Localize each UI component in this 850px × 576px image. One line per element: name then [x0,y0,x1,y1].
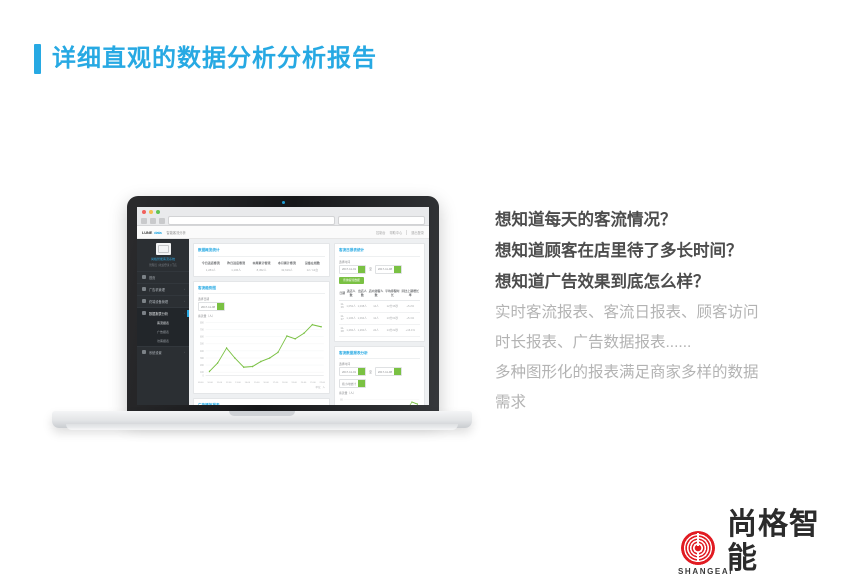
x-tick: 09:00 [198,382,203,384]
date-value: 2017-11-01 [340,370,358,374]
kpi-label: 本周累计客流 [249,261,274,265]
kpi-value: 8,452人 [249,268,274,272]
sidebar-subitem-visitor-report[interactable]: 访客报表 [137,337,189,346]
x-tick: 18:00 [282,382,287,384]
stat-type-select[interactable]: 按小时统计 [339,379,366,388]
calendar-icon[interactable] [358,266,365,273]
x-tick: 17:00 [273,382,278,384]
dashboard-column-right: 客流日报表统计 选择时间 2017-11-01 至 2017- [334,243,425,403]
brand-accent: data [154,230,161,235]
webcam-icon [282,201,285,204]
x-tick: 22:00 [320,382,325,384]
laptop-base-front [66,424,458,430]
chart-footer: 单位：人 [198,385,325,389]
kpi-label: 设备在线数 [300,261,325,265]
marketing-copy: 想知道每天的客流情况？ 想知道顾客在店里待了多长时间？ 想知道广告效果到底怎么样… [495,205,825,418]
header-menu-item[interactable]: 控制台 [376,230,386,235]
home-icon [142,275,146,279]
sidebar-item-label: 数据报表分析 [149,311,168,316]
kpi-label: 本月累计客流 [274,261,299,265]
traffic-analysis-chart-card: 客流数据报表分析 选择时间 2017-11-01 至 2017 [334,346,425,406]
filter-label: 选择时间 [339,260,420,264]
profile-name: 尚格智能客流系统 [137,257,189,261]
sidebar-item-settings[interactable]: 系统设置 › [137,346,189,358]
x-tick: 13:00 [235,382,240,384]
header-menu-item[interactable]: 退出登录 [411,230,424,235]
brand-subtitle: 智能客流分析 [167,230,186,235]
x-tick: 19:00 [291,382,296,384]
card-title: 客流数据报表分析 [339,351,420,360]
table-cell: 13分04秒 [384,312,400,324]
line-chart-traffic: 800 700 600 500 400 300 200 100 [198,319,325,381]
kpi-value: 1,284人 [198,268,223,272]
x-tick: 16:00 [263,382,268,384]
page-title-text: 详细直观的数据分析分析报告 [52,44,377,74]
avatar [156,243,171,255]
kpi-label: 昨日进店客流 [223,261,248,265]
card-title: 客流日报表统计 [339,248,420,257]
sidebar-item-devices[interactable]: 终端设备管理 › [137,295,189,307]
table-cell: 1,038人 [357,300,368,312]
x-tick: 15:00 [254,382,259,384]
svg-text:800: 800 [200,321,204,324]
table-cell: 24人 [368,324,384,336]
logo-en-text: SHANGEAI [678,567,718,576]
x-tick: 10:00 [207,382,212,384]
sidebar-item-home[interactable]: 首页 [137,271,189,283]
y-axis-label: 客流量（人） [198,314,325,318]
table-row[interactable]: 11-08 1,284人 1,260人 24人 14分22秒 +16.1% [339,324,420,336]
stats-card: 数据概览统计 今日进店客流 1,284人 昨日进店客流 1,106人 [193,243,330,277]
kpi-item: 昨日进店客流 1,106人 [223,261,248,272]
table-cell: 14人 [368,300,384,312]
header-menu-item[interactable]: 帮助中心 [390,230,403,235]
filter-label: 选择日期 [198,297,325,301]
kpi-item: 本月累计客流 32,619人 [274,261,299,272]
screen-icon [142,287,146,291]
dashboard-column-left: 数据概览统计 今日进店客流 1,284人 昨日进店客流 1,106人 [193,243,330,403]
table-cell: 14分22秒 [384,324,400,336]
chevron-right-icon: › [184,299,185,303]
laptop-screen: LUNE data 智能客流分析 控制台 帮助中心 退出登录 [137,207,429,405]
card-title: 客流趋势图 [198,286,325,295]
browser-chrome [137,207,429,226]
chart-svg: 800 700 600 500 400 300 200 100 [198,319,325,381]
svg-text:500: 500 [200,342,204,345]
kpi-item: 本周累计客流 8,452人 [249,261,274,272]
table-cell: 1,052人 [345,300,356,312]
copy-question: 想知道顾客在店里待了多长时间？ [495,236,825,267]
browser-toolbar [141,216,425,225]
stat-type-value: 按小时统计 [340,382,358,386]
page-title: 详细直观的数据分析分析报告 [34,44,377,74]
kpi-row: 今日进店客流 1,284人 昨日进店客流 1,106人 本周累计客流 [198,260,325,272]
svg-text:600: 600 [200,335,204,338]
title-accent-bar [34,44,41,74]
date-picker[interactable]: 2017-11-08 [198,302,225,311]
table-cell: 1,094人 [357,312,368,324]
table-header-row: 日期 进店人数 出店人数 店内滞留人数 平均停留时长 同比上期增长率 [339,287,420,301]
date-value: 2017-11-08 [376,370,394,374]
column-header: 出店人数 [357,287,368,301]
column-header: 同比上期增长率 [401,287,421,301]
sidebar-item-reports[interactable]: 数据报表分析 › [137,307,189,319]
svg-text:700: 700 [200,328,204,331]
copy-question: 想知道每天的客流情况？ [495,205,825,236]
filter-row: 2017-11-01 至 2017-11-08 [339,367,420,388]
card-title: 广告播放报表 [198,403,325,405]
sidebar-item-label: 广告机管理 [149,287,165,292]
kpi-item: 设备在线数 12 / 12台 [300,261,325,272]
table-cell: 1,284人 [345,324,356,336]
calendar-icon[interactable] [217,303,224,310]
table-cell: 1,260人 [357,324,368,336]
profile-meta: 管理员 | 欢迎登录 | 门店 [137,263,189,267]
app-header: LUNE data 智能客流分析 控制台 帮助中心 退出登录 [137,226,429,239]
gear-icon [142,350,146,354]
search-input[interactable] [338,216,425,225]
app-brand[interactable]: LUNE data 智能客流分析 [142,230,186,235]
slide-root: 详细直观的数据分析分析报告 想知道每天的客流情况？ 想知道顾客在店里待了多长时间… [0,0,850,567]
kpi-label: 今日进店客流 [198,261,223,265]
y-tick-labels: 800 700 600 500 400 300 200 100 [200,321,204,378]
filter-label: 选择时间 [339,362,420,366]
forward-icon[interactable] [150,218,156,224]
chevron-right-icon: › [184,287,185,291]
table-cell: +16.1% [401,324,421,336]
sidebar-item-label: 终端设备管理 [149,299,168,304]
dashboard-content: 数据概览统计 今日进店客流 1,284人 昨日进店客流 1,106人 [189,239,429,405]
svg-text:300: 300 [200,357,204,360]
copy-paragraph: 需求 [495,388,825,418]
y-tick-labels: 800 700 600 500 400 300 200 100 [340,399,343,405]
ad-report-card-partial: 广告播放报表 选择时间 2017-11-01 至 2017-1 [193,398,330,405]
x-tick: 11:00 [217,382,222,384]
back-icon[interactable] [141,218,147,224]
kpi-value: 32,619人 [274,268,299,272]
x-tick: 20:00 [301,382,306,384]
sidebar-profile: 尚格智能客流系统 管理员 | 欢迎登录 | 门店 [137,239,189,271]
kpi-value: 12 / 12台 [300,268,325,272]
svg-text:200: 200 [200,364,204,367]
table-row[interactable]: 11-07 1,106人 1,094人 12人 13分04秒 +5.1% [339,312,420,324]
fingerprint-icon [681,531,715,565]
logo-cn-text: 尚格智能 [727,508,850,576]
table-cell: 12分36秒 [384,300,400,312]
close-icon[interactable] [142,210,146,214]
sidebar-subitem-ad-report[interactable]: 广告报表 [137,328,189,337]
sidebar-subitem-traffic-report[interactable]: 客流报表 [137,319,189,328]
device-icon [142,299,146,303]
copy-paragraph: 时长报表、广告数据报表...... [495,328,825,358]
date-picker-to[interactable]: 2017-11-08 [375,265,402,274]
column-header: 进店人数 [345,287,356,301]
table-cell: 12人 [368,312,384,324]
x-tick-labels: 09:00 10:00 11:00 12:00 13:00 14:00 15:0… [198,382,325,384]
card-title: 数据概览统计 [198,248,325,257]
copy-paragraph: 实时客流报表、客流日报表、顾客访问 [495,298,825,328]
sidebar-item-label: 首页 [149,275,155,280]
date-value: 2017-11-08 [376,267,394,271]
series-points [346,401,418,405]
filter-row: 2017-11-01 至 2017-11-08 查询客流数据 [339,265,420,284]
date-value: 2017-11-08 [199,305,217,309]
copy-paragraph: 多种图形化的报表满足商家多样的数据 [495,358,825,388]
y-axis-label: 客流量（人） [339,391,420,395]
divider [406,230,407,235]
series-line [346,402,417,405]
sidebar: 尚格智能客流系统 管理员 | 欢迎登录 | 门店 首页 广告机管理 › [137,239,189,405]
kpi-item: 今日进店客流 1,284人 [198,261,223,272]
column-header: 店内滞留人数 [368,287,384,301]
date-value: 2017-11-01 [340,267,358,271]
window-controls[interactable] [142,210,160,214]
daily-report-table-card: 客流日报表统计 选择时间 2017-11-01 至 2017- [334,243,425,342]
laptop-lid: LUNE data 智能客流分析 控制台 帮助中心 退出登录 [127,196,439,418]
copy-question: 想知道广告效果到底怎么样？ [495,267,825,298]
data-table: 日期 进店人数 出店人数 店内滞留人数 平均停留时长 同比上期增长率 [339,287,420,337]
chevron-right-icon: › [184,350,185,354]
sidebar-item-label: 系统设置 [149,350,162,355]
chart-svg: 800 700 600 500 400 300 200 100 [339,396,420,405]
chevron-down-icon: › [184,311,185,315]
table-cell: +5.1% [401,312,421,324]
traffic-trend-card: 客流趋势图 选择日期 2017-11-08 客流量（人） [193,281,330,395]
svg-text:400: 400 [200,349,204,352]
app-header-menu: 控制台 帮助中心 退出登录 [376,230,424,235]
line-chart-analysis: 800 700 600 500 400 300 200 100 [339,396,420,405]
maximize-icon[interactable] [156,210,160,214]
app-body: 尚格智能客流系统 管理员 | 欢迎登录 | 门店 首页 广告机管理 › [137,239,429,405]
table-cell: +5.2% [401,300,421,312]
column-header: 平均停留时长 [384,287,400,301]
minimize-icon[interactable] [149,210,153,214]
kpi-value: 1,106人 [223,268,248,272]
date-picker-to[interactable]: 2017-11-08 [375,367,402,376]
gridlines [206,323,324,373]
chart-icon [142,311,146,315]
logo-mark: SHANGEAI [678,531,718,576]
table-cell: 1,106人 [345,312,356,324]
calendar-icon[interactable] [394,266,401,273]
date-picker-from[interactable]: 2017-11-01 [339,265,366,274]
date-picker-from[interactable]: 2017-11-01 [339,367,366,376]
brand-main: LUNE [142,230,152,235]
x-tick: 21:00 [310,382,315,384]
chevron-down-icon[interactable] [358,380,365,387]
table-row[interactable]: 11-06 1,052人 1,038人 14人 12分36秒 +5.2% [339,300,420,312]
x-tick: 14:00 [245,382,250,384]
gridlines [344,400,419,405]
x-tick: 12:00 [226,382,231,384]
company-logo: SHANGEAI 尚格智能 [678,508,850,576]
query-button[interactable]: 查询客流数据 [339,277,364,284]
address-input[interactable] [168,216,335,225]
reload-icon[interactable] [159,218,165,224]
laptop-mockup: LUNE data 智能客流分析 控制台 帮助中心 退出登录 [52,196,472,436]
svg-text:0: 0 [203,374,205,377]
calendar-icon[interactable] [394,368,401,375]
sidebar-item-ads[interactable]: 广告机管理 › [137,283,189,295]
range-separator: 至 [369,267,372,271]
svg-text:800: 800 [340,399,343,402]
range-separator: 至 [369,370,372,374]
calendar-icon[interactable] [358,368,365,375]
filter-row: 2017-11-08 [198,302,325,311]
